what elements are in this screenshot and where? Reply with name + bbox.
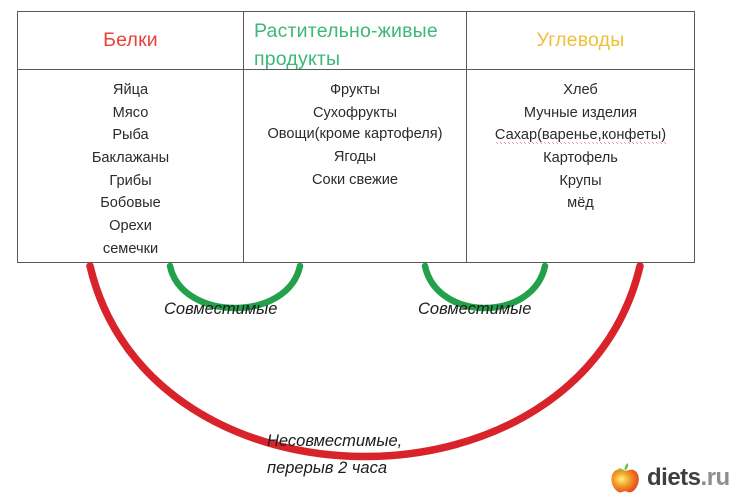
column-header-plant-live-products: Растительно-живые продукты xyxy=(243,12,466,69)
list-item: Мучные изделия xyxy=(467,102,694,125)
column-body-proteins: Яйца Мясо Рыба Баклажаны Грибы Бобовые О… xyxy=(18,69,243,262)
watermark-tld: ru xyxy=(707,464,730,491)
list-item: Яйца xyxy=(18,79,243,102)
list-item: мёд xyxy=(467,192,694,215)
list-item: Картофель xyxy=(467,147,694,170)
compatible-label-right: Совместимые xyxy=(418,300,531,319)
list-item: Соки свежие xyxy=(244,169,466,192)
watermark-name: diets xyxy=(647,464,701,491)
list-item: Орехи xyxy=(18,215,243,238)
watermark: diets.ru xyxy=(608,461,730,495)
compatible-label-left: Совместимые xyxy=(164,300,277,319)
list-item: семечки xyxy=(18,238,243,261)
list-item: Крупы xyxy=(467,170,694,193)
apple-icon xyxy=(608,461,642,495)
list-item: Рыба xyxy=(18,124,243,147)
column-body-plant-live-products: Фрукты Сухофрукты Овощи(кроме картофеля)… xyxy=(243,69,466,262)
watermark-text: diets.ru xyxy=(647,466,730,490)
infographic-canvas: Белки Растительно-живые продукты Углевод… xyxy=(0,0,745,499)
list-item: Сахар(варенье,конфеты) xyxy=(495,127,666,144)
column-header-carbohydrates: Углеводы xyxy=(466,12,694,69)
column-header-proteins: Белки xyxy=(18,12,243,69)
list-item: Грибы xyxy=(18,170,243,193)
list-item: Мясо xyxy=(18,102,243,125)
incompatible-label-line2: перерыв 2 часа xyxy=(267,455,402,482)
list-item: Сухофрукты xyxy=(244,102,466,125)
list-item: Баклажаны xyxy=(18,147,243,170)
list-item: Фрукты xyxy=(244,79,466,102)
incompatible-label: Несовместимые, перерыв 2 часа xyxy=(267,428,402,481)
column-body-carbohydrates: Хлеб Мучные изделия Сахар(варенье,конфет… xyxy=(466,69,694,262)
list-item: Ягоды xyxy=(244,146,466,169)
list-item: Хлеб xyxy=(467,79,694,102)
list-item: Овощи(кроме картофеля) xyxy=(244,124,466,146)
list-item: Бобовые xyxy=(18,192,243,215)
food-compatibility-table: Белки Растительно-живые продукты Углевод… xyxy=(17,11,695,263)
incompatible-label-line1: Несовместимые, xyxy=(267,428,402,455)
